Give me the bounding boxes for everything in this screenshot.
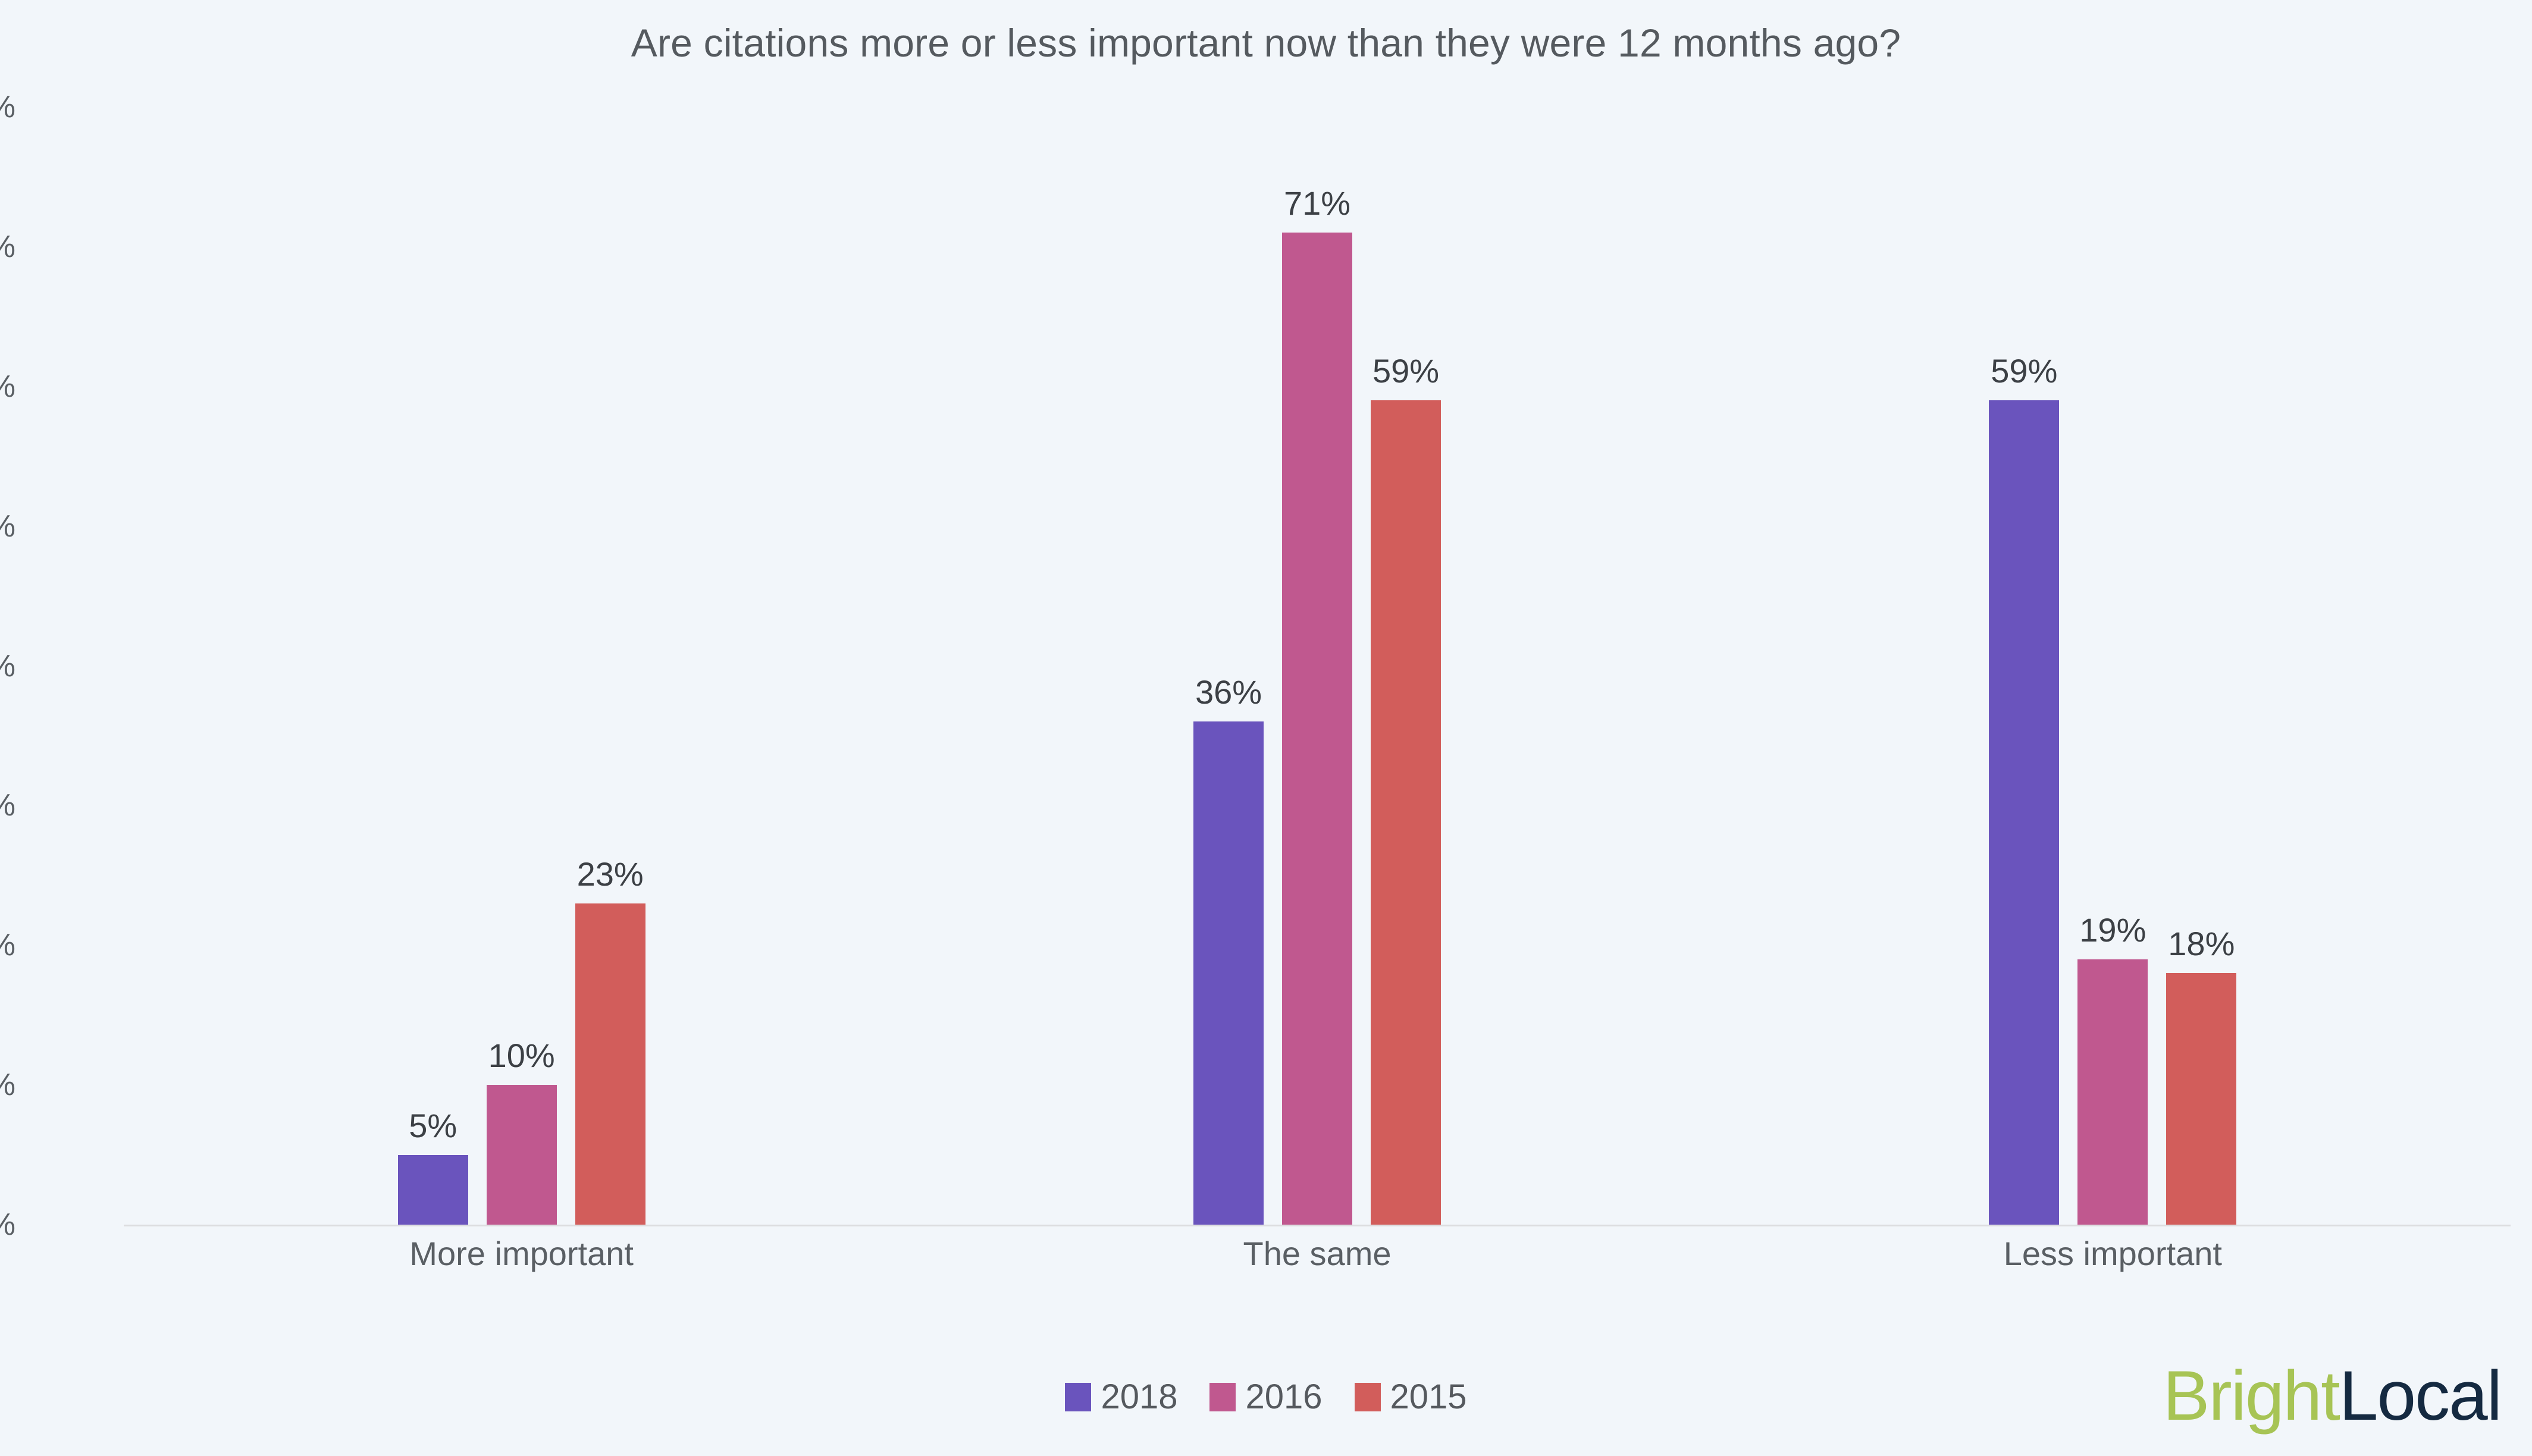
logo-text-local: Local: [2339, 1357, 2501, 1435]
bar-value-label: 23%: [577, 855, 644, 893]
y-axis-tick-label: 40%: [0, 648, 15, 684]
x-axis-category-label: More important: [409, 1234, 634, 1273]
y-axis-tick-label: 70%: [0, 229, 15, 265]
legend-item[interactable]: 2018: [1065, 1380, 1177, 1414]
bar-value-label: 71%: [1284, 184, 1350, 222]
legend-swatch-icon: [1209, 1383, 1236, 1411]
legend-item[interactable]: 2016: [1209, 1380, 1322, 1414]
bar: [575, 903, 645, 1225]
legend-label: 2015: [1390, 1380, 1467, 1414]
chart-title: Are citations more or less important now…: [0, 20, 2532, 65]
x-axis-category-label: The same: [1243, 1234, 1392, 1273]
bar-value-label: 36%: [1195, 673, 1262, 711]
legend-swatch-icon: [1355, 1383, 1381, 1411]
axis-baseline: [124, 1225, 2511, 1226]
y-axis-tick-label: 0%: [0, 1207, 15, 1242]
legend-item[interactable]: 2015: [1355, 1380, 1467, 1414]
x-axis-category-label: Less important: [2004, 1234, 2222, 1273]
y-axis-tick-label: 50%: [0, 509, 15, 544]
y-axis-tick-label: 60%: [0, 369, 15, 404]
y-axis-tick-label: 10%: [0, 1067, 15, 1103]
bar: [1989, 400, 2059, 1225]
logo-text-bright: Bright: [2163, 1357, 2339, 1435]
bar-value-label: 18%: [2168, 924, 2235, 963]
legend-swatch-icon: [1065, 1383, 1091, 1411]
legend-label: 2018: [1101, 1380, 1177, 1414]
bar-value-label: 59%: [1372, 352, 1439, 390]
bar: [398, 1155, 468, 1225]
y-axis-tick-label: 80%: [0, 89, 15, 125]
bar-value-label: 59%: [1991, 352, 2057, 390]
bar-value-label: 5%: [409, 1106, 457, 1145]
bar: [1282, 233, 1352, 1225]
bar: [1193, 721, 1264, 1225]
chart-legend: 201820162015: [0, 1380, 2532, 1414]
plot-area: [124, 107, 2511, 1225]
bar-chart-figure: Are citations more or less important now…: [0, 0, 2532, 1456]
gridline: [124, 107, 2511, 108]
bar: [2077, 959, 2148, 1225]
bar: [1371, 400, 1441, 1225]
bar-value-label: 10%: [488, 1036, 555, 1075]
legend-label: 2016: [1245, 1380, 1322, 1414]
y-axis-tick-label: 20%: [0, 927, 15, 963]
y-axis-tick-label: 30%: [0, 787, 15, 823]
brightlocal-logo: BrightLocal: [2163, 1361, 2501, 1431]
bar: [487, 1085, 557, 1225]
bar: [2166, 973, 2236, 1225]
bar-value-label: 19%: [2079, 911, 2146, 949]
